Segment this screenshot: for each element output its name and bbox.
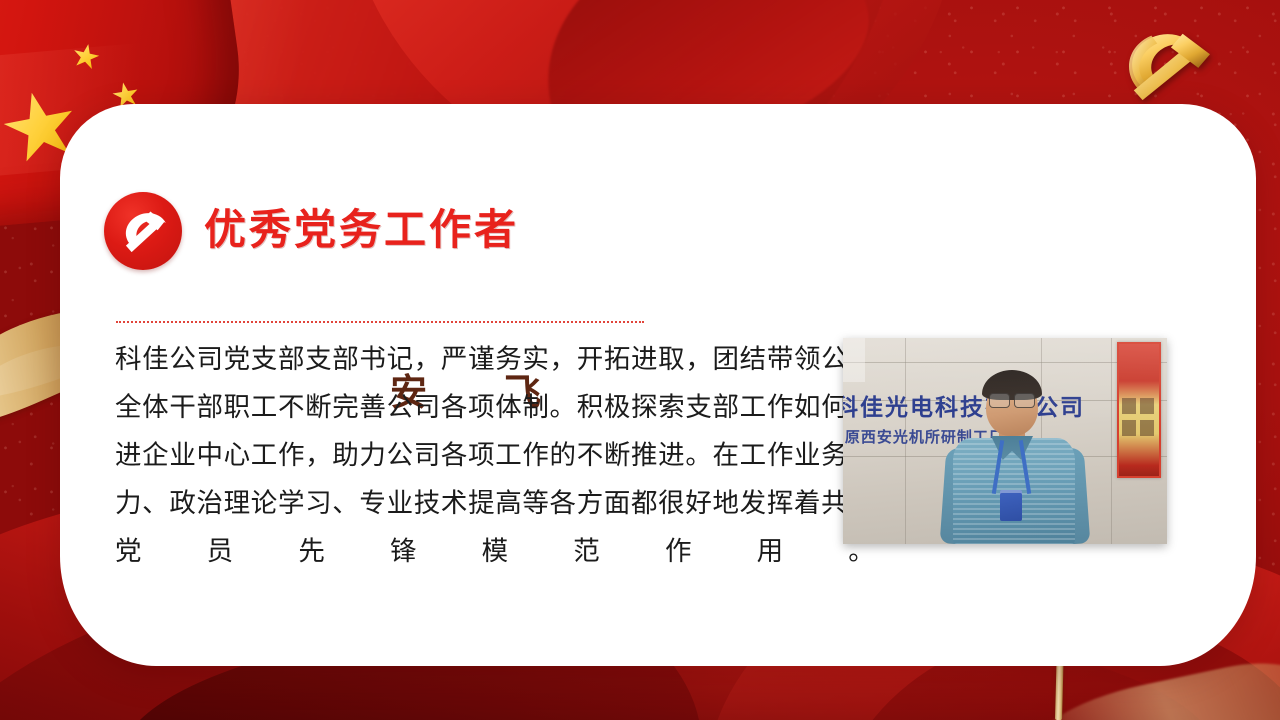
- board-photo: [1122, 398, 1136, 414]
- description-paragraph: 科佳公司党支部支部书记，严谨务实，开拓进取，团结带领公司全体干部职工不断完善公司…: [115, 336, 875, 576]
- hammer-sickle-icon: [104, 192, 182, 270]
- person-id-badge: [1000, 490, 1022, 521]
- photo-person: [939, 362, 1089, 544]
- photo-wall-panel: [843, 338, 865, 382]
- photo-bulletin-board: [1117, 342, 1161, 478]
- content-card: 优秀党务工作者 安 飞 科佳公司党支部支部书记，严谨务实，开拓进取，团结带领公司…: [60, 104, 1256, 666]
- board-photo: [1140, 398, 1154, 414]
- page-title: 优秀党务工作者: [204, 210, 519, 252]
- header-row: 优秀党务工作者: [104, 192, 519, 270]
- slide-root: 优秀党务工作者 安 飞 科佳公司党支部支部书记，严谨务实，开拓进取，团结带领公司…: [0, 0, 1280, 720]
- dotted-divider: [116, 321, 644, 323]
- person-glasses-icon: [989, 393, 1035, 406]
- board-photo: [1122, 420, 1136, 436]
- person-photo: 科佳光电科技有限公司 (原西安光机所研制工厂): [843, 338, 1167, 544]
- board-photo: [1140, 420, 1154, 436]
- photo-wall-seam: [1111, 338, 1112, 544]
- cpc-gold-emblem-icon: [1108, 22, 1226, 106]
